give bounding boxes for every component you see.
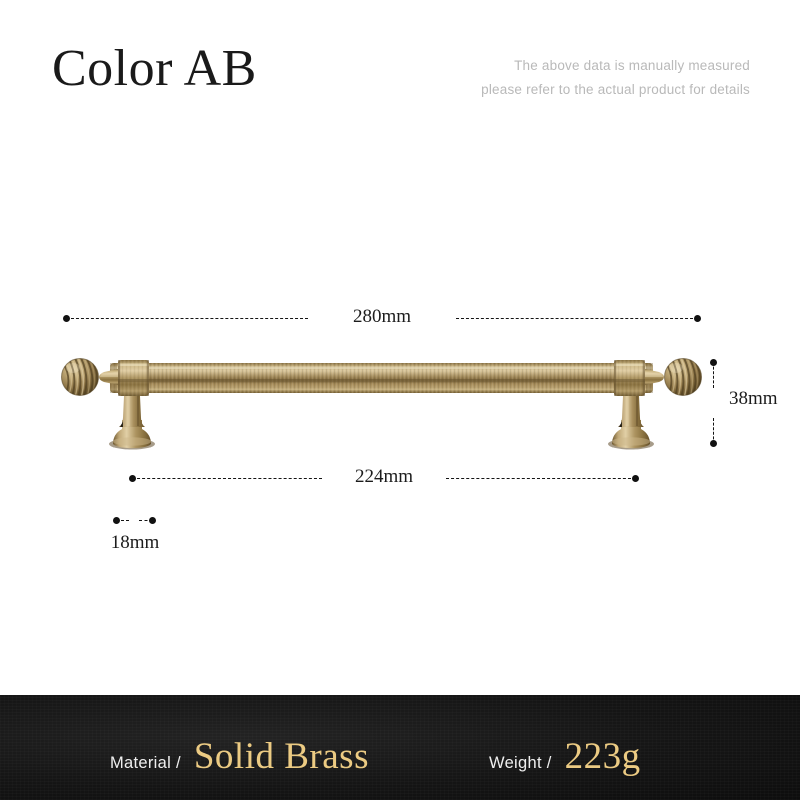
- spec-weight: Weight / 223g: [489, 738, 641, 775]
- disclaimer-line-1: The above data is manually measured: [420, 54, 750, 78]
- right-post: [608, 396, 654, 450]
- dimension-label-center-to-center: 224mm: [324, 466, 444, 488]
- product-illustration: [0, 0, 800, 800]
- product-spec-page: Color AB The above data is manually meas…: [0, 0, 800, 800]
- right-collar: [614, 360, 645, 396]
- dimension-line-segment: [132, 478, 322, 480]
- spec-weight-value: 223g: [565, 738, 641, 775]
- left-finial: [62, 358, 99, 398]
- spec-weight-label: Weight /: [489, 754, 552, 773]
- dimension-label-base-diameter: 18mm: [88, 532, 182, 554]
- left-neck: [99, 369, 118, 385]
- handle-bar: [110, 363, 653, 393]
- spec-material-label: Material /: [110, 754, 181, 773]
- disclaimer-line-2: please refer to the actual product for d…: [420, 78, 750, 102]
- dimension-line-segment: [116, 520, 129, 522]
- left-post: [109, 396, 155, 450]
- left-collar: [118, 360, 149, 396]
- page-title: Color AB: [52, 42, 257, 97]
- dimension-line-segment: [66, 318, 308, 320]
- dimension-endpoint-dot: [710, 440, 717, 447]
- dimension-center-to-center: 224mm: [132, 478, 636, 479]
- dimension-label-overall-length: 280mm: [311, 306, 453, 328]
- dimension-endpoint-dot: [149, 517, 156, 524]
- measurement-disclaimer: The above data is manually measured plea…: [420, 54, 750, 101]
- dimension-line-segment: [446, 478, 636, 480]
- spec-material: Material / Solid Brass: [110, 738, 369, 775]
- right-finial: [665, 358, 702, 398]
- dimension-overall-length: 280mm: [66, 318, 698, 319]
- dimension-line-segment: [456, 318, 698, 320]
- right-neck: [645, 369, 664, 385]
- dimension-endpoint-dot: [632, 475, 639, 482]
- spec-material-value: Solid Brass: [194, 738, 369, 775]
- dimension-endpoint-dot: [694, 315, 701, 322]
- dimension-label-projection-height: 38mm: [729, 388, 778, 410]
- dimension-line-segment: [713, 362, 715, 388]
- dimension-projection-height: 38mm: [713, 362, 714, 444]
- dimension-base-diameter: 18mm: [116, 520, 153, 521]
